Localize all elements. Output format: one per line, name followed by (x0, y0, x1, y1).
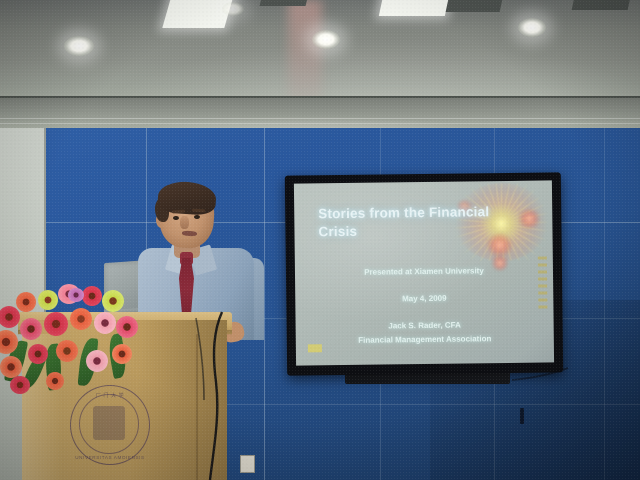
slide-presented-at: Presented at Xiamen University (295, 264, 553, 279)
sticky-note (308, 344, 322, 352)
slide-title: Stories from the Financial Crisis (318, 203, 518, 241)
flower-10 (70, 308, 92, 330)
slide-title-line-2: Crisis (318, 221, 518, 241)
soffit-slat-2 (0, 123, 640, 124)
speaker-eye-right (194, 215, 200, 219)
lecture-hall-photo: Stories from the Financial Crisis Presen… (0, 0, 640, 480)
speaker-mouth (182, 231, 197, 237)
slide-surface: Stories from the Financial Crisis Presen… (294, 180, 554, 365)
tile-grout-v-2 (264, 128, 265, 480)
soffit-slat-1 (0, 118, 640, 119)
flower-19 (46, 372, 64, 390)
speaker-brow-right (192, 209, 205, 213)
panel-light-4-dark (446, 0, 505, 12)
downlight-4 (222, 2, 244, 16)
slide-presenter: Jack S. Rader, CFA (296, 318, 554, 333)
flower-9 (44, 312, 68, 336)
flower-1 (0, 306, 20, 328)
flower-12 (116, 316, 138, 338)
downlight-2 (312, 30, 340, 49)
panel-light-5-dark (572, 0, 633, 10)
flower-arrangement (0, 282, 146, 404)
flower-15 (56, 340, 78, 362)
flower-6 (102, 290, 124, 312)
flower-16 (86, 350, 108, 372)
slide-organization: Financial Management Association (296, 332, 554, 347)
projection-screen[interactable]: Stories from the Financial Crisis Presen… (285, 172, 563, 375)
slide-date: May 4, 2009 (295, 291, 553, 306)
flower-3 (38, 290, 58, 310)
flower-5 (82, 286, 102, 306)
wall-outlet (240, 455, 255, 473)
downlight-3 (518, 18, 546, 37)
screen-edge-markings (538, 256, 548, 308)
flower-2 (16, 292, 36, 312)
panel-light-2 (379, 0, 451, 16)
flower-11 (94, 312, 116, 334)
seal-bottom-text: UNIVERSITAS AMOIENSIS (71, 455, 149, 460)
flower-8 (20, 318, 42, 340)
flower-14 (28, 344, 48, 364)
slide-body: Presented at Xiamen University May 4, 20… (295, 264, 554, 362)
speaker-eye-left (173, 216, 179, 220)
flower-17 (112, 344, 132, 364)
flower-13 (0, 356, 22, 378)
slide-title-line-1: Stories from the Financial (318, 203, 518, 223)
wall-scuff-mark (520, 408, 524, 424)
downlight-1 (64, 36, 94, 56)
speaker-nose (180, 216, 189, 229)
flower-20 (68, 288, 84, 302)
flower-18 (10, 376, 30, 394)
panel-light-3-dark (260, 0, 311, 6)
